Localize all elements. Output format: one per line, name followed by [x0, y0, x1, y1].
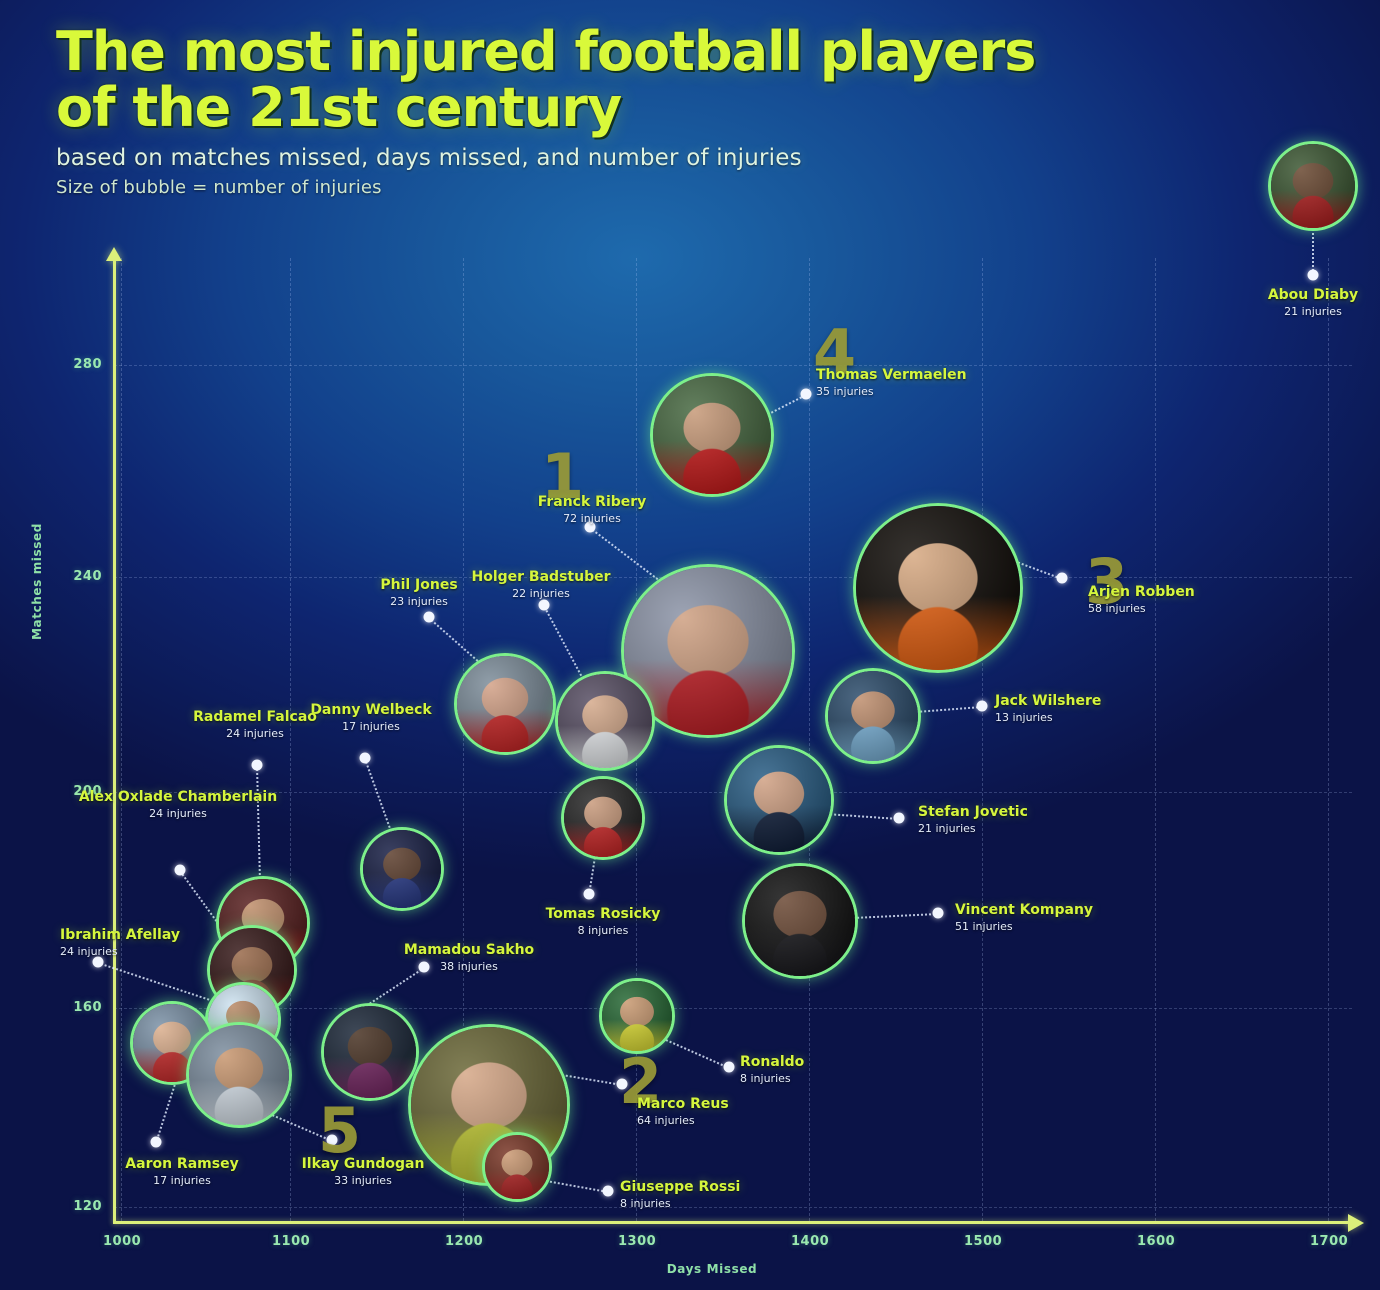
player-bubble[interactable]: [724, 745, 834, 855]
portrait-shading: [457, 656, 553, 752]
player-name: Holger Badstuber: [472, 570, 611, 586]
player-injury-count: 35 injuries: [816, 386, 967, 398]
player-bubble[interactable]: [555, 671, 655, 771]
player-name: Thomas Vermaelen: [816, 368, 967, 384]
rank-number: 5: [318, 1100, 361, 1162]
x-axis-arrow-icon: [1348, 1214, 1364, 1232]
player-label: Aaron Ramsey17 injuries: [125, 1157, 238, 1187]
player-name: Radamel Falcao: [193, 710, 317, 726]
gridline-horizontal: [114, 365, 1352, 366]
player-name: Mamadou Sakho: [404, 943, 534, 959]
leader-line: [916, 706, 982, 713]
player-injury-count: 24 injuries: [79, 808, 277, 820]
anchor-dot: [801, 389, 812, 400]
portrait-shading: [653, 376, 771, 494]
player-name: Ronaldo: [740, 1055, 804, 1071]
player-label: Radamel Falcao24 injuries: [193, 710, 317, 740]
player-bubble[interactable]: [561, 776, 645, 860]
player-injury-count: 8 injuries: [620, 1198, 740, 1210]
player-label: Giuseppe Rossi8 injuries: [620, 1180, 740, 1210]
player-name: Giuseppe Rossi: [620, 1180, 740, 1196]
player-injury-count: 38 injuries: [404, 961, 534, 973]
player-label: Vincent Kompany51 injuries: [955, 903, 1093, 933]
portrait-shading: [363, 830, 441, 908]
gridline-horizontal: [114, 1008, 1352, 1009]
x-axis-tick: 1000: [103, 1234, 141, 1249]
player-name: Ibrahim Afellay: [60, 928, 180, 944]
anchor-dot: [1057, 573, 1068, 584]
gridline-vertical: [1155, 258, 1156, 1221]
title-line-1: The most injured football players: [56, 20, 1035, 83]
gridline-vertical: [809, 258, 810, 1221]
anchor-dot: [894, 813, 905, 824]
y-axis-tick: 160: [62, 1000, 102, 1015]
anchor-dot: [252, 760, 263, 771]
anchor-dot: [360, 753, 371, 764]
anchor-dot: [584, 889, 595, 900]
player-name: Franck Ribery: [538, 495, 647, 511]
player-name: Aaron Ramsey: [125, 1157, 238, 1173]
x-axis-tick: 1200: [445, 1234, 483, 1249]
leader-line: [256, 766, 261, 882]
player-label: Holger Badstuber22 injuries: [472, 570, 611, 600]
player-injury-count: 8 injuries: [740, 1073, 804, 1085]
anchor-dot: [424, 612, 435, 623]
leader-line: [364, 759, 393, 835]
player-name: Marco Reus: [637, 1097, 729, 1113]
y-axis-tick: 280: [62, 357, 102, 372]
player-injury-count: 13 injuries: [995, 712, 1101, 724]
player-injury-count: 17 injuries: [310, 721, 431, 733]
anchor-dot: [151, 1137, 162, 1148]
player-label: Thomas Vermaelen35 injuries: [816, 368, 967, 398]
leader-line: [562, 1074, 622, 1086]
player-name: Tomas Rosicky: [546, 907, 661, 923]
player-label: Franck Ribery72 injuries: [538, 495, 647, 525]
x-axis-tick: 1400: [791, 1234, 829, 1249]
player-injury-count: 22 injuries: [472, 588, 611, 600]
player-bubble[interactable]: [482, 1132, 552, 1202]
player-name: Vincent Kompany: [955, 903, 1093, 919]
y-axis-tick: 120: [62, 1199, 102, 1214]
portrait-shading: [856, 506, 1020, 670]
portrait-shading: [564, 779, 642, 857]
player-bubble[interactable]: [1268, 141, 1358, 231]
x-axis-tick: 1100: [272, 1234, 310, 1249]
player-label: Mamadou Sakho38 injuries: [404, 943, 534, 973]
player-injury-count: 21 injuries: [918, 823, 1028, 835]
gridline-vertical: [982, 258, 983, 1221]
portrait-shading: [189, 1025, 289, 1125]
x-axis-line: [113, 1221, 1353, 1224]
anchor-dot: [175, 865, 186, 876]
player-bubble[interactable]: [454, 653, 556, 755]
player-name: Jack Wilshere: [995, 694, 1101, 710]
y-axis-label: Matches missed: [30, 523, 44, 640]
anchor-dot: [933, 908, 944, 919]
portrait-shading: [558, 674, 652, 768]
player-label: Marco Reus64 injuries: [637, 1097, 729, 1127]
leader-line: [155, 1081, 177, 1144]
player-injury-count: 23 injuries: [380, 596, 457, 608]
x-axis-tick: 1700: [1310, 1234, 1348, 1249]
player-name: Danny Welbeck: [310, 703, 431, 719]
player-injury-count: 8 injuries: [546, 925, 661, 937]
title-line-2: of the 21st century: [56, 76, 621, 139]
player-bubble[interactable]: [742, 863, 858, 979]
player-injury-count: 33 injuries: [302, 1175, 425, 1187]
portrait-shading: [745, 866, 855, 976]
portrait-shading: [1271, 144, 1355, 228]
x-axis-tick: 1600: [1137, 1234, 1175, 1249]
player-name: Stefan Jovetic: [918, 805, 1028, 821]
portrait-shading: [485, 1135, 549, 1199]
player-label: Ilkay Gundogan33 injuries: [302, 1157, 425, 1187]
bubble-size-note: Size of bubble = number of injuries: [56, 177, 1056, 198]
leader-line: [826, 813, 899, 820]
player-injury-count: 58 injuries: [1088, 603, 1195, 615]
x-axis-tick: 1300: [618, 1234, 656, 1249]
y-axis-line: [113, 258, 116, 1223]
anchor-dot: [603, 1186, 614, 1197]
portrait-shading: [828, 671, 918, 761]
gridline-vertical: [1328, 258, 1329, 1221]
player-injury-count: 24 injuries: [193, 728, 317, 740]
player-injury-count: 17 injuries: [125, 1175, 238, 1187]
gridline-vertical: [121, 258, 122, 1221]
player-injury-count: 72 injuries: [538, 513, 647, 525]
player-label: Jack Wilshere13 injuries: [995, 694, 1101, 724]
player-label: Stefan Jovetic21 injuries: [918, 805, 1028, 835]
infographic-canvas: The most injured football players of the…: [0, 0, 1380, 1290]
leader-line: [666, 1039, 730, 1069]
player-name: Ilkay Gundogan: [302, 1157, 425, 1173]
player-name: Arjen Robben: [1088, 585, 1195, 601]
player-label: Tomas Rosicky8 injuries: [546, 907, 661, 937]
portrait-shading: [324, 1006, 416, 1098]
y-axis-arrow-icon: [106, 247, 122, 261]
player-bubble[interactable]: [853, 503, 1023, 673]
player-injury-count: 24 injuries: [60, 946, 180, 958]
player-bubble[interactable]: [650, 373, 774, 497]
portrait-shading: [602, 981, 672, 1051]
player-label: Ibrahim Afellay24 injuries: [60, 928, 180, 958]
y-axis-tick: 240: [62, 569, 102, 584]
header: The most injured football players of the…: [56, 24, 1056, 198]
portrait-shading: [727, 748, 831, 852]
anchor-dot: [724, 1062, 735, 1073]
player-injury-count: 21 injuries: [1268, 306, 1358, 318]
player-bubble[interactable]: [321, 1003, 419, 1101]
player-injury-count: 51 injuries: [955, 921, 1093, 933]
page-title: The most injured football players of the…: [56, 24, 1056, 135]
x-axis-label: Days Missed: [667, 1262, 758, 1276]
player-name: Alex Oxlade Chamberlain: [79, 790, 277, 806]
player-label: Arjen Robben58 injuries: [1088, 585, 1195, 615]
player-bubble[interactable]: [186, 1022, 292, 1128]
player-label: Ronaldo8 injuries: [740, 1055, 804, 1085]
leader-line: [853, 913, 938, 919]
player-bubble[interactable]: [599, 978, 675, 1054]
player-label: Phil Jones23 injuries: [380, 578, 457, 608]
player-name: Abou Diaby: [1268, 288, 1358, 304]
anchor-dot: [93, 957, 104, 968]
player-injury-count: 64 injuries: [637, 1115, 729, 1127]
anchor-dot: [977, 701, 988, 712]
anchor-dot: [539, 600, 550, 611]
player-label: Abou Diaby21 injuries: [1268, 288, 1358, 318]
x-axis-tick: 1500: [964, 1234, 1002, 1249]
player-label: Danny Welbeck17 injuries: [310, 703, 431, 733]
player-bubble[interactable]: [825, 668, 921, 764]
player-name: Phil Jones: [380, 578, 457, 594]
player-bubble[interactable]: [360, 827, 444, 911]
subtitle: based on matches missed, days missed, an…: [56, 145, 1056, 171]
anchor-dot: [1308, 270, 1319, 281]
player-label: Alex Oxlade Chamberlain24 injuries: [79, 790, 277, 820]
